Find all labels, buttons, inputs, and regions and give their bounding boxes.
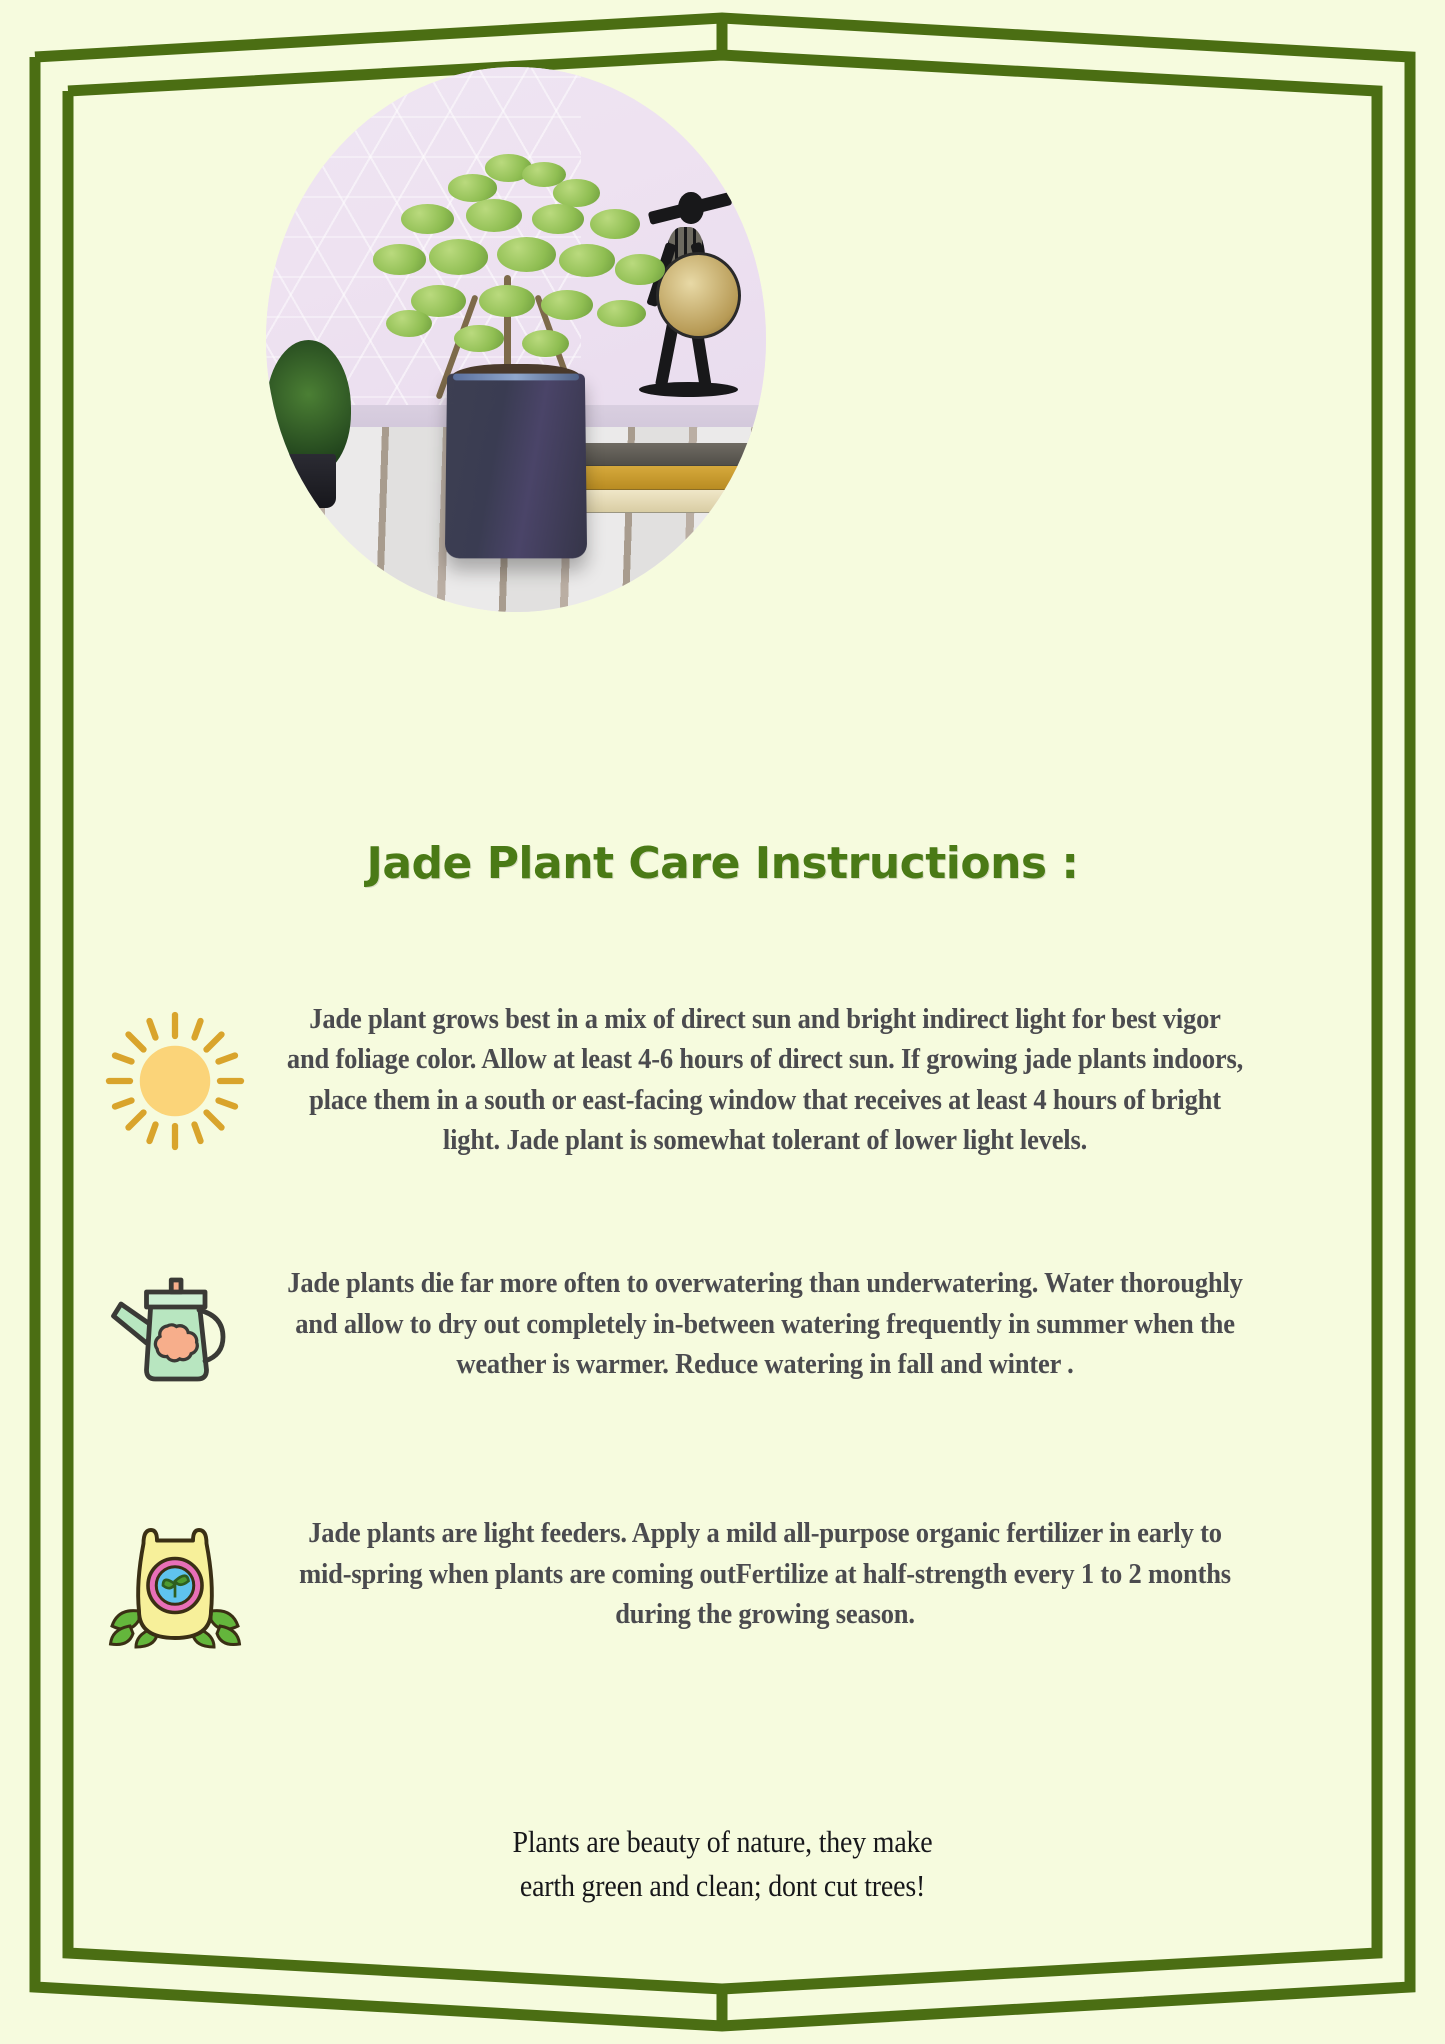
care-section-fertilizer: Jade plants are light feeders. Apply a m… xyxy=(100,1500,1280,1650)
photo-ceramic-pot xyxy=(445,374,587,559)
closing-quote: Plants are beauty of nature, they make e… xyxy=(72,1820,1373,1908)
photo-background-pot xyxy=(281,454,336,509)
care-text-fertilizer: Jade plants are light feeders. Apply a m… xyxy=(286,1514,1244,1635)
care-text-light: Jade plant grows best in a mix of direct… xyxy=(286,1000,1244,1162)
care-text-water: Jade plants die far more often to overwa… xyxy=(286,1264,1244,1385)
fertilizer-bag-icon xyxy=(100,1500,250,1650)
jade-plant-photo xyxy=(266,67,766,612)
poster-root: Jade Plant Care Instructions : xyxy=(0,0,1445,2044)
care-section-light: Jade plant grows best in a mix of direct… xyxy=(100,1000,1280,1162)
photo-books xyxy=(581,443,761,514)
watering-can-icon xyxy=(100,1250,250,1400)
page-title: Jade Plant Care Instructions : xyxy=(0,838,1445,889)
quote-line-2: earth green and clean; dont cut trees! xyxy=(72,1864,1373,1908)
quote-line-1: Plants are beauty of nature, they make xyxy=(72,1820,1373,1864)
sun-icon xyxy=(100,1006,250,1156)
care-section-water: Jade plants die far more often to overwa… xyxy=(100,1250,1280,1400)
